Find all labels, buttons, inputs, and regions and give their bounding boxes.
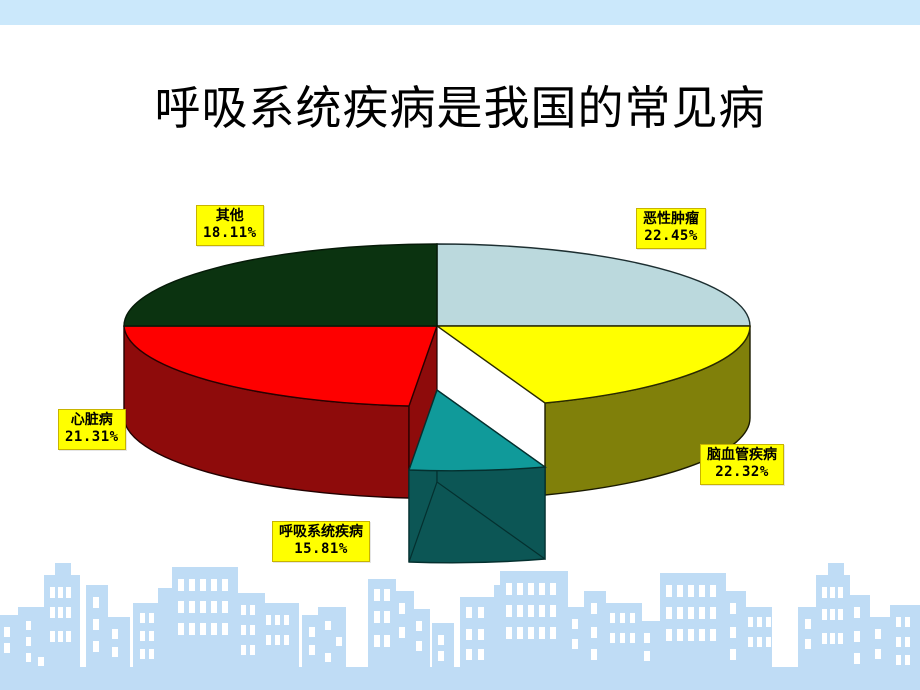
pie-chart: [0, 0, 920, 690]
slide-canvas: 呼吸系统疾病是我国的常见病: [0, 0, 920, 690]
pie-label-other[interactable]: 其他 18.11%: [196, 205, 264, 246]
slice-top-cancer: [437, 244, 750, 326]
pie-label-heart-name: 心脏病: [65, 412, 119, 429]
pie-label-cerebrovascular-name: 脑血管疾病: [707, 447, 777, 464]
pie-label-cancer-name: 恶性肿瘤: [643, 211, 699, 228]
pie-label-cancer[interactable]: 恶性肿瘤 22.45%: [636, 208, 706, 249]
pie-label-cerebrovascular[interactable]: 脑血管疾病 22.32%: [700, 444, 784, 485]
pie-label-other-value: 18.11%: [203, 225, 257, 242]
pie-label-other-name: 其他: [203, 208, 257, 225]
pie-label-respiratory-value: 15.81%: [279, 541, 363, 558]
pie-label-cerebrovascular-value: 22.32%: [707, 464, 777, 481]
pie-label-heart[interactable]: 心脏病 21.31%: [58, 409, 126, 450]
pie-label-cancer-value: 22.45%: [643, 228, 699, 245]
slice-group-respiratory: [409, 390, 545, 563]
pie-label-respiratory[interactable]: 呼吸系统疾病 15.81%: [272, 521, 370, 562]
pie-label-respiratory-name: 呼吸系统疾病: [279, 524, 363, 541]
slice-top-other: [124, 244, 437, 326]
pie-label-heart-value: 21.31%: [65, 429, 119, 446]
